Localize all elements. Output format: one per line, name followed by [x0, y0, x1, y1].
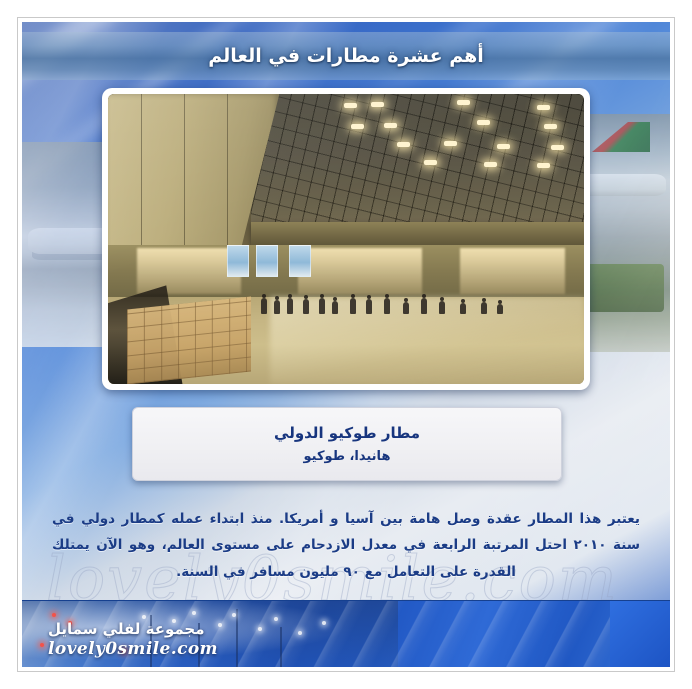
title-banner: أهم عشرة مطارات في العالم: [22, 32, 670, 80]
footer-corner-accent: [610, 601, 670, 667]
photo-haze-overlay: [108, 94, 584, 384]
brand-arabic-name: مجموعة لفلي سمايل: [48, 620, 218, 638]
airport-location: هانيدا، طوكيو: [304, 449, 391, 464]
main-photo-card: [102, 88, 590, 390]
description-text: يعتبر هذا المطار عقدة وصل هامة بين آسيا …: [52, 506, 640, 585]
footer-band: مجموعة لفلي سمايل lovely0smile.com: [22, 600, 670, 667]
poster-screenshot: Emirates أهم عشرة مطارات في العالم: [0, 0, 692, 689]
caption-box: مطار طوكيو الدولي هانيدا، طوكيو: [132, 407, 562, 481]
description-block: يعتبر هذا المطار عقدة وصل هامة بين آسيا …: [34, 496, 658, 595]
page-title: أهم عشرة مطارات في العالم: [208, 45, 484, 67]
brand-website: lovely0smile.com: [48, 639, 218, 659]
airport-terminal-photo: [108, 94, 584, 384]
airport-name: مطار طوكيو الدولي: [274, 424, 420, 442]
poster-canvas: Emirates أهم عشرة مطارات في العالم: [22, 22, 670, 667]
brand-block: مجموعة لفلي سمايل lovely0smile.com: [48, 620, 218, 659]
